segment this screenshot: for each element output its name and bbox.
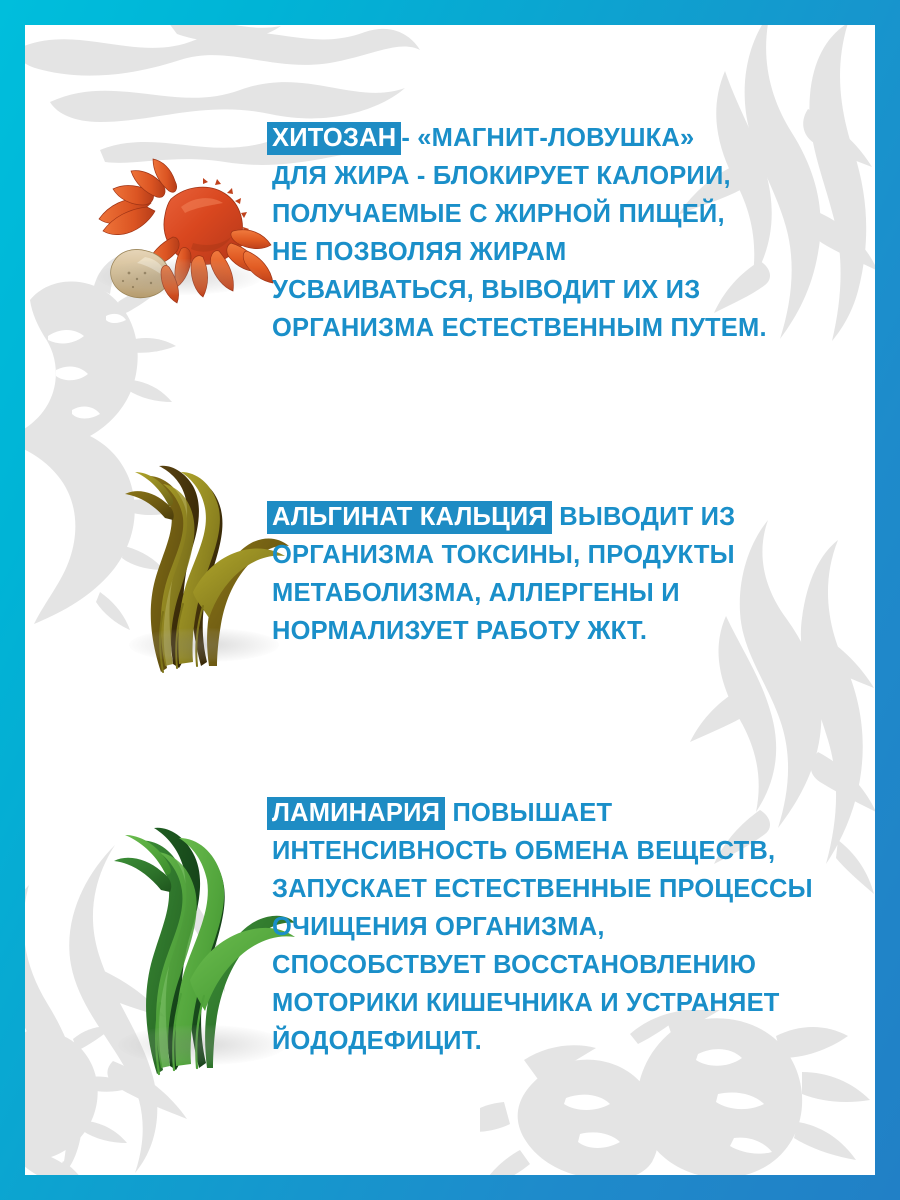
alginate-line-2: МЕТАБОЛИЗМА, АЛЛЕРГЕНЫ И (272, 574, 735, 612)
chitosan-line-5: ОРГАНИЗМА ЕСТЕСТВЕННЫМ ПУТЕМ. (272, 309, 767, 347)
king-crab-photo (85, 155, 275, 305)
chitosan-text: ХИТОЗАН- «МАГНИТ-ЛОВУШКА» ДЛЯ ЖИРА - БЛО… (272, 119, 767, 347)
white-canvas: ХИТОЗАН- «МАГНИТ-ЛОВУШКА» ДЛЯ ЖИРА - БЛО… (25, 25, 875, 1175)
green-kelp-illustration (100, 820, 295, 1085)
laminaria-line-2: ЗАПУСКАЕТ ЕСТЕСТВЕННЫЕ ПРОЦЕССЫ (272, 870, 813, 908)
laminaria-line-3: ОЧИЩЕНИЯ ОРГАНИЗМА, (272, 908, 813, 946)
laminaria-highlight: ЛАМИНАРИЯ (267, 797, 445, 830)
chitosan-line-4: УСВАИВАТЬСЯ, ВЫВОДИТ ИХ ИЗ (272, 271, 767, 309)
laminaria-text: ЛАМИНАРИЯ ПОВЫШАЕТ ИНТЕНСИВНОСТЬ ОБМЕНА … (272, 794, 813, 1060)
alginate-text: АЛЬГИНАТ КАЛЬЦИЯ ВЫВОДИТ ИЗ ОРГАНИЗМА ТО… (272, 498, 735, 650)
brown-kelp-illustration (105, 460, 295, 680)
chitosan-line-1: ДЛЯ ЖИРА - БЛОКИРУЕТ КАЛОРИИ, (272, 157, 767, 195)
laminaria-line-5: МОТОРИКИ КИШЕЧНИКА И УСТРАНЯЕТ (272, 984, 813, 1022)
alginate-line-3: НОРМАЛИЗУЕТ РАБОТУ ЖКТ. (272, 612, 735, 650)
alginate-line-0: ВЫВОДИТ ИЗ (552, 503, 735, 531)
chitosan-highlight: ХИТОЗАН (267, 122, 401, 155)
promo-banner: ХИТОЗАН- «МАГНИТ-ЛОВУШКА» ДЛЯ ЖИРА - БЛО… (0, 0, 900, 1200)
chitosan-line-0: - «МАГНИТ-ЛОВУШКА» (401, 124, 694, 152)
content-layer: ХИТОЗАН- «МАГНИТ-ЛОВУШКА» ДЛЯ ЖИРА - БЛО… (25, 25, 875, 1175)
chitosan-line-3: НЕ ПОЗВОЛЯЯ ЖИРАМ (272, 233, 767, 271)
chitosan-line-2: ПОЛУЧАЕМЫЕ С ЖИРНОЙ ПИЩЕЙ, (272, 195, 767, 233)
laminaria-line-0: ПОВЫШАЕТ (445, 799, 612, 827)
alginate-line-1: ОРГАНИЗМА ТОКСИНЫ, ПРОДУКТЫ (272, 536, 735, 574)
laminaria-line-1: ИНТЕНСИВНОСТЬ ОБМЕНА ВЕЩЕСТВ, (272, 832, 813, 870)
laminaria-line-4: СПОСОБСТВУЕТ ВОССТАНОВЛЕНИЮ (272, 946, 813, 984)
alginate-highlight: АЛЬГИНАТ КАЛЬЦИЯ (267, 501, 552, 534)
laminaria-line-6: ЙОДОДЕФИЦИТ. (272, 1022, 813, 1060)
